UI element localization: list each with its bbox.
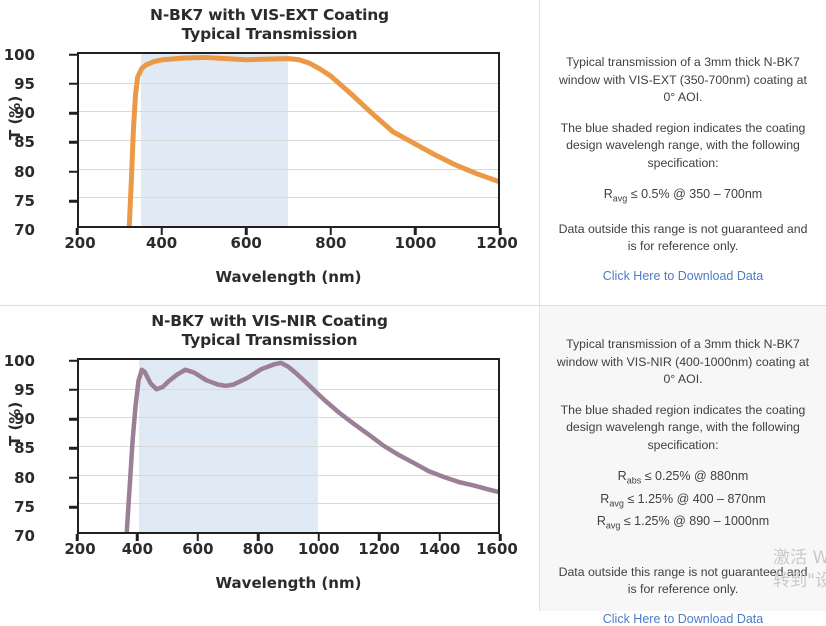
- chart-pane-vis-ext: N-BK7 with VIS-EXT Coating Typical Trans…: [0, 0, 540, 305]
- y-tick-80: 80: [0, 163, 35, 181]
- y-tick-mark-85: [69, 447, 77, 450]
- spec-symbol: R: [604, 187, 613, 201]
- x-axis-label-vis-ext: Wavelength (nm): [77, 268, 500, 286]
- chart-title-vis-ext: N-BK7 with VIS-EXT Coating Typical Trans…: [0, 0, 539, 44]
- plot-area-vis-nir: T (%) 100 95 90 85 80 75 70: [0, 350, 540, 600]
- y-tick-75: 75: [0, 498, 35, 516]
- spec-line: Ravg ≤ 1.25% @ 400 – 870nm: [554, 490, 812, 513]
- y-tick-100: 100: [0, 352, 35, 370]
- spec-symbol: R: [597, 514, 606, 528]
- x-tick-1600: 1600: [476, 540, 518, 558]
- curve-vis-ext: [79, 54, 498, 226]
- chart-title-line2: Typical Transmission: [0, 25, 539, 44]
- download-data-link-vis-nir[interactable]: Click Here to Download Data: [554, 612, 812, 626]
- spec-subscript: avg: [606, 521, 621, 531]
- chart-title-line2: Typical Transmission: [0, 331, 539, 350]
- plot-frame-vis-nir: [77, 358, 500, 534]
- spec-line: Rabs ≤ 0.25% @ 880nm: [554, 467, 812, 490]
- y-tick-mark-80: [69, 476, 77, 479]
- description-paragraph-3: Data outside this range is not guarantee…: [554, 564, 812, 599]
- x-tick-1200: 1200: [476, 234, 518, 252]
- chart-title-line1: N-BK7 with VIS-NIR Coating: [151, 312, 387, 330]
- section-vis-ext: N-BK7 with VIS-EXT Coating Typical Trans…: [0, 0, 826, 305]
- y-tick-mark-90: [69, 418, 77, 421]
- spec-value: ≤ 0.25% @ 880nm: [641, 469, 748, 483]
- y-tick-mark-100: [69, 53, 77, 56]
- text-pane-vis-ext: Typical transmission of a 3mm thick N-BK…: [540, 0, 826, 305]
- x-axis-label-vis-nir: Wavelength (nm): [77, 574, 500, 592]
- y-tick-70: 70: [0, 527, 35, 545]
- y-tick-75: 75: [0, 192, 35, 210]
- x-tick-800: 800: [315, 234, 346, 252]
- spec-value: ≤ 1.25% @ 400 – 870nm: [624, 492, 766, 506]
- spec-symbol: R: [600, 492, 609, 506]
- chart-title-line1: N-BK7 with VIS-EXT Coating: [150, 6, 389, 24]
- description-paragraph-1: Typical transmission of a 3mm thick N-BK…: [554, 336, 812, 389]
- plot-area-vis-ext: T (%) 100 95 90 85 80 75 70: [0, 44, 540, 294]
- description-paragraph-1: Typical transmission of a 3mm thick N-BK…: [554, 54, 812, 107]
- chart-title-vis-nir: N-BK7 with VIS-NIR Coating Typical Trans…: [0, 306, 539, 350]
- chart-pane-vis-nir: N-BK7 with VIS-NIR Coating Typical Trans…: [0, 306, 540, 611]
- x-tick-600: 600: [182, 540, 213, 558]
- specification-list-vis-ext: Ravg ≤ 0.5% @ 350 – 700nm: [554, 185, 812, 208]
- x-tick-200: 200: [64, 234, 95, 252]
- x-tick-200: 200: [64, 540, 95, 558]
- y-tick-mark-75: [69, 506, 77, 509]
- text-pane-vis-nir: Typical transmission of a 3mm thick N-BK…: [540, 306, 826, 611]
- description-paragraph-2: The blue shaded region indicates the coa…: [554, 120, 812, 173]
- y-tick-mark-95: [69, 389, 77, 392]
- spec-symbol: R: [618, 469, 627, 483]
- description-paragraph-2: The blue shaded region indicates the coa…: [554, 402, 812, 455]
- y-tick-85: 85: [0, 439, 35, 457]
- transmission-curves-page: N-BK7 with VIS-EXT Coating Typical Trans…: [0, 0, 826, 610]
- description-paragraph-3: Data outside this range is not guarantee…: [554, 221, 812, 256]
- x-tick-400: 400: [122, 540, 153, 558]
- y-tick-70: 70: [0, 221, 35, 239]
- specification-list-vis-nir: Rabs ≤ 0.25% @ 880nm Ravg ≤ 1.25% @ 400 …: [554, 467, 812, 535]
- download-data-link-vis-ext[interactable]: Click Here to Download Data: [554, 269, 812, 283]
- plot-frame-vis-ext: [77, 52, 500, 228]
- spec-subscript: abs: [627, 476, 642, 486]
- x-tick-1200: 1200: [358, 540, 400, 558]
- spec-subscript: avg: [613, 194, 628, 204]
- x-tick-800: 800: [243, 540, 274, 558]
- y-tick-90: 90: [0, 104, 35, 122]
- spec-value: ≤ 1.25% @ 890 – 1000nm: [620, 514, 769, 528]
- y-tick-mark-100: [69, 359, 77, 362]
- curve-vis-nir: [79, 360, 498, 532]
- spec-line: Ravg ≤ 1.25% @ 890 – 1000nm: [554, 512, 812, 535]
- x-tick-400: 400: [146, 234, 177, 252]
- y-tick-95: 95: [0, 75, 35, 93]
- y-tick-95: 95: [0, 381, 35, 399]
- spec-line: Ravg ≤ 0.5% @ 350 – 700nm: [554, 185, 812, 208]
- spec-subscript: avg: [609, 498, 624, 508]
- x-tick-600: 600: [231, 234, 262, 252]
- y-tick-mark-95: [69, 83, 77, 86]
- x-tick-1400: 1400: [419, 540, 461, 558]
- y-tick-100: 100: [0, 46, 35, 64]
- spec-value: ≤ 0.5% @ 350 – 700nm: [627, 187, 762, 201]
- y-tick-80: 80: [0, 469, 35, 487]
- x-tick-1000: 1000: [395, 234, 437, 252]
- y-tick-mark-75: [69, 200, 77, 203]
- y-tick-mark-90: [69, 112, 77, 115]
- y-tick-mark-80: [69, 170, 77, 173]
- x-tick-1000: 1000: [298, 540, 340, 558]
- y-tick-85: 85: [0, 133, 35, 151]
- y-tick-mark-85: [69, 141, 77, 144]
- y-tick-90: 90: [0, 410, 35, 428]
- section-vis-nir: N-BK7 with VIS-NIR Coating Typical Trans…: [0, 305, 826, 610]
